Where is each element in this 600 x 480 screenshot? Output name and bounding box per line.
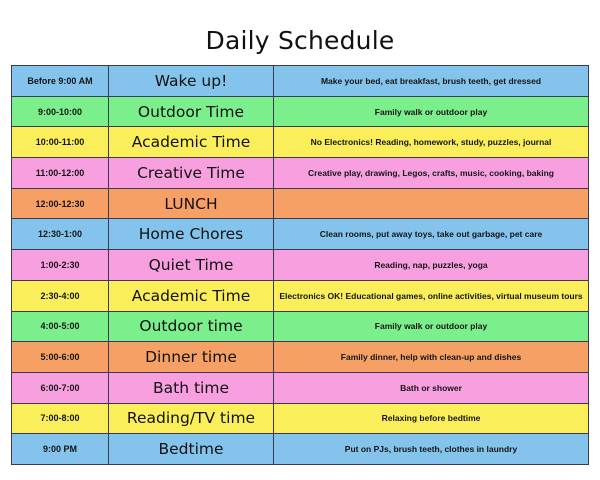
schedule-time-cell: 6:00-7:00 (12, 372, 109, 403)
table-row: 7:00-8:00Reading/TV timeRelaxing before … (12, 403, 589, 434)
schedule-time-cell: 10:00-11:00 (12, 127, 109, 158)
schedule-time-cell: 11:00-12:00 (12, 158, 109, 189)
table-row: 10:00-11:00Academic TimeNo Electronics! … (12, 127, 589, 158)
table-row: 9:00 PMBedtimePut on PJs, brush teeth, c… (12, 434, 589, 465)
schedule-description-cell: Creative play, drawing, Legos, crafts, m… (274, 158, 589, 189)
table-row: 4:00-5:00Outdoor timeFamily walk or outd… (12, 311, 589, 342)
schedule-time-cell: 2:30-4:00 (12, 280, 109, 311)
schedule-activity-cell: Bath time (109, 372, 274, 403)
schedule-activity-cell: LUNCH (109, 188, 274, 219)
schedule-description-cell: Relaxing before bedtime (274, 403, 589, 434)
schedule-description-cell: Family walk or outdoor play (274, 96, 589, 127)
schedule-activity-cell: Reading/TV time (109, 403, 274, 434)
schedule-time-cell: 12:00-12:30 (12, 188, 109, 219)
daily-schedule-table: Before 9:00 AMWake up!Make your bed, eat… (11, 65, 589, 465)
schedule-activity-cell: Outdoor Time (109, 96, 274, 127)
schedule-activity-cell: Wake up! (109, 66, 274, 97)
table-row: 9:00-10:00Outdoor TimeFamily walk or out… (12, 96, 589, 127)
schedule-description-cell: Bath or shower (274, 372, 589, 403)
schedule-page: Daily Schedule Before 9:00 AMWake up!Mak… (0, 0, 600, 480)
table-row: 12:30-1:00Home ChoresClean rooms, put aw… (12, 219, 589, 250)
schedule-activity-cell: Dinner time (109, 342, 274, 373)
schedule-activity-cell: Quiet Time (109, 250, 274, 281)
table-row: 1:00-2:30Quiet TimeReading, nap, puzzles… (12, 250, 589, 281)
schedule-activity-cell: Academic Time (109, 280, 274, 311)
schedule-description-cell: Make your bed, eat breakfast, brush teet… (274, 66, 589, 97)
schedule-description-cell: No Electronics! Reading, homework, study… (274, 127, 589, 158)
table-row: Before 9:00 AMWake up!Make your bed, eat… (12, 66, 589, 97)
schedule-time-cell: 1:00-2:30 (12, 250, 109, 281)
schedule-activity-cell: Academic Time (109, 127, 274, 158)
schedule-time-cell: 9:00-10:00 (12, 96, 109, 127)
schedule-activity-cell: Bedtime (109, 434, 274, 465)
schedule-time-cell: Before 9:00 AM (12, 66, 109, 97)
schedule-activity-cell: Outdoor time (109, 311, 274, 342)
schedule-activity-cell: Home Chores (109, 219, 274, 250)
schedule-time-cell: 9:00 PM (12, 434, 109, 465)
schedule-description-cell: Family dinner, help with clean-up and di… (274, 342, 589, 373)
schedule-time-cell: 7:00-8:00 (12, 403, 109, 434)
schedule-description-cell: Electronics OK! Educational games, onlin… (274, 280, 589, 311)
schedule-description-cell: Clean rooms, put away toys, take out gar… (274, 219, 589, 250)
schedule-time-cell: 12:30-1:00 (12, 219, 109, 250)
page-title: Daily Schedule (0, 26, 600, 56)
table-row: 11:00-12:00Creative TimeCreative play, d… (12, 158, 589, 189)
table-row: 6:00-7:00Bath timeBath or shower (12, 372, 589, 403)
schedule-time-cell: 4:00-5:00 (12, 311, 109, 342)
table-row: 12:00-12:30LUNCH (12, 188, 589, 219)
schedule-description-cell: Family walk or outdoor play (274, 311, 589, 342)
schedule-description-cell (274, 188, 589, 219)
schedule-activity-cell: Creative Time (109, 158, 274, 189)
schedule-table-body: Before 9:00 AMWake up!Make your bed, eat… (12, 66, 589, 465)
table-row: 5:00-6:00Dinner timeFamily dinner, help … (12, 342, 589, 373)
table-row: 2:30-4:00Academic TimeElectronics OK! Ed… (12, 280, 589, 311)
schedule-description-cell: Reading, nap, puzzles, yoga (274, 250, 589, 281)
schedule-description-cell: Put on PJs, brush teeth, clothes in laun… (274, 434, 589, 465)
schedule-time-cell: 5:00-6:00 (12, 342, 109, 373)
